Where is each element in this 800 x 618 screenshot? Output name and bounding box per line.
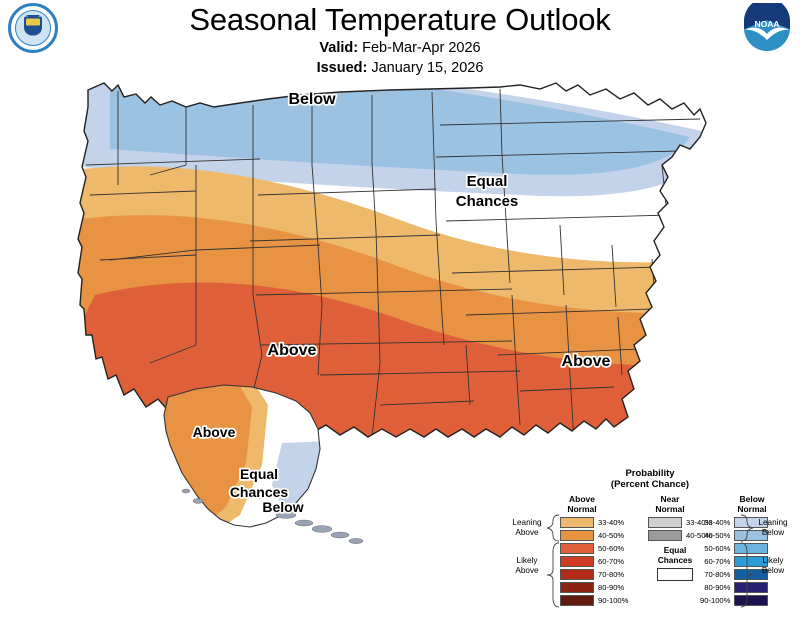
legend-swatch-label: 90-100%: [598, 596, 628, 605]
legend-swatch-box: [560, 582, 594, 593]
probability-legend: Probability (Percent Chance) Above Norma…: [500, 468, 800, 618]
valid-line: Valid: Feb-Mar-Apr 2026: [0, 40, 800, 56]
legend-swatch-label: 60-70%: [704, 557, 730, 566]
map-label-alaska-above: Above: [193, 424, 236, 440]
map-label-alaska-equal1: Equal: [240, 466, 278, 482]
legend-swatch-label: 60-70%: [598, 557, 624, 566]
legend-swatch-row: 80-90%: [700, 581, 768, 594]
legend-swatch-label: 50-60%: [598, 544, 624, 553]
legend-bracket-leaning-below: Leaning Below: [750, 518, 796, 537]
legend-swatch-label: 80-90%: [704, 583, 730, 592]
legend-swatch-row: 60-70%: [560, 555, 628, 568]
legend-head-above: Above Normal: [552, 495, 612, 514]
legend-swatch-row: 40-50%: [560, 529, 628, 542]
legend-swatch-box: [648, 530, 682, 541]
legend-swatch-row: 80-90%: [560, 581, 628, 594]
legend-bracket-leaning-below-l1: Leaning: [758, 518, 787, 527]
legend-bracket-leaning-below-l2: Below: [762, 528, 784, 537]
valid-label: Valid:: [319, 40, 358, 56]
legend-swatch-row: 50-60%: [560, 542, 628, 555]
conus-shading: [0, 45, 800, 465]
legend-head-near-l1: Near: [661, 494, 680, 504]
legend-swatch-label: 70-80%: [704, 570, 730, 579]
legend-swatch-label: 33-40%: [598, 518, 624, 527]
header: NOAA Seasonal Temperature Outlook Valid:…: [0, 0, 800, 80]
legend-bracket-likely-above: Likely Above: [504, 556, 550, 575]
legend-swatch-label: 90-100%: [700, 596, 730, 605]
legend-swatch-row: 50-60%: [700, 542, 768, 555]
map-label-above-southeast: Above: [562, 353, 611, 370]
legend-swatch-label: 70-80%: [598, 570, 624, 579]
map-label-alaska-equal2: Chances: [230, 484, 289, 500]
legend-swatch-box: [560, 595, 594, 606]
legend-equal-chances-box: [657, 568, 693, 581]
legend-head-near-l2: Normal: [655, 504, 684, 514]
map-label-below-plains: Below: [288, 91, 336, 108]
bracket-likely-below-icon: [740, 542, 754, 608]
page-title: Seasonal Temperature Outlook: [0, 0, 800, 38]
legend-bracket-likely-above-l2: Above: [515, 566, 538, 575]
valid-value: Feb-Mar-Apr 2026: [362, 40, 480, 56]
legend-swatch-box: [560, 569, 594, 580]
map-label-alaska-below: Below: [262, 499, 303, 515]
legend-swatch-label: 40-50%: [598, 531, 624, 540]
legend-head-below-l2: Normal: [737, 504, 766, 514]
legend-swatch-box: [560, 530, 594, 541]
legend-bracket-leaning-above-l1: Leaning: [512, 518, 541, 527]
legend-title-line2: (Percent Chance): [500, 479, 800, 490]
issued-value: January 15, 2026: [371, 60, 483, 76]
legend-bracket-leaning-above: Leaning Above: [504, 518, 550, 537]
map-label-equal-line2: Chances: [456, 193, 519, 210]
legend-bracket-likely-below: Likely Below: [750, 556, 796, 575]
legend-bracket-likely-above-l1: Likely: [517, 556, 538, 565]
legend-title-line1: Probability: [500, 468, 800, 479]
legend-swatch-row: 70-80%: [560, 568, 628, 581]
bracket-leaning-below-icon: [740, 514, 754, 542]
legend-swatch-row: 90-100%: [700, 594, 768, 607]
legend-swatch-box: [560, 556, 594, 567]
legend-head-below-l1: Below: [739, 494, 764, 504]
issued-label: Issued:: [317, 60, 368, 76]
legend-bracket-likely-below-l1: Likely: [763, 556, 784, 565]
legend-head-above-l2: Normal: [567, 504, 596, 514]
legend-swatch-row: 90-100%: [560, 594, 628, 607]
legend-swatch-row: 33-40%: [560, 516, 628, 529]
legend-swatch-label: 40-50%: [704, 531, 730, 540]
legend-swatch-label: 33-40%: [704, 518, 730, 527]
legend-swatch-label: 50-60%: [704, 544, 730, 553]
legend-swatch-label: 80-90%: [598, 583, 624, 592]
issued-line: Issued: January 15, 2026: [0, 60, 800, 76]
legend-swatch-box: [560, 517, 594, 528]
legend-head-above-l1: Above: [569, 494, 595, 504]
map-label-above-southwest: Above: [268, 342, 317, 359]
map-label-equal-line1: Equal: [467, 173, 508, 190]
legend-head-below: Below Normal: [722, 495, 782, 514]
bracket-leaning-above-icon: [546, 514, 560, 542]
legend-swatch-box: [648, 517, 682, 528]
legend-bracket-likely-below-l2: Below: [762, 566, 784, 575]
legend-swatch-box: [560, 543, 594, 554]
legend-bracket-leaning-above-l2: Above: [515, 528, 538, 537]
legend-head-near: Near Normal: [640, 495, 700, 514]
bracket-likely-above-icon: [546, 542, 560, 608]
legend-title: Probability (Percent Chance): [500, 468, 800, 490]
legend-column-above: 33-40% 40-50% 50-60% 60-70% 70-80% 80-90…: [560, 516, 628, 607]
